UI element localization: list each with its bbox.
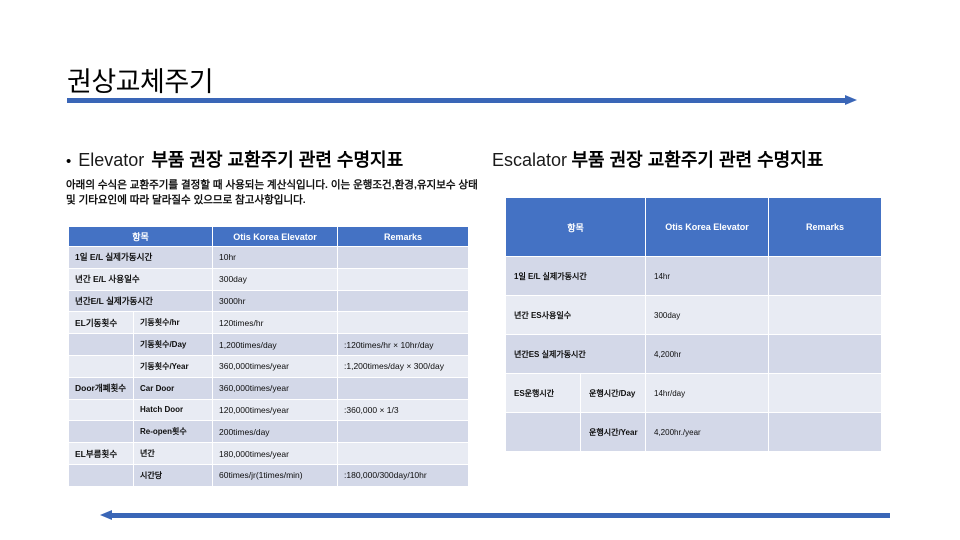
row-group-label: Door개폐횟수 [69,377,134,399]
row-value: 120,000times/year [213,399,338,421]
bullet-icon: • [66,154,71,169]
row-sub-label: 운행시간/Day [581,374,646,413]
row-group-label [69,421,134,443]
row-group-label [69,399,134,421]
row-value: 3000hr [213,290,338,312]
column-header-remarks: Remarks [769,198,882,257]
escalator-table-body: 1일 E/L 실제가동시간14hr년간 ES사용일수300day년간ES 실제가… [506,257,882,452]
elevator-heading-bold: 부품 권장 교환주기 관련 수명지표 [151,146,403,172]
escalator-heading: Escalator 부품 권장 교환주기 관련 수명지표 [492,146,823,172]
row-sub-label: 기동횟수/Year [134,355,213,377]
elevator-table: 항목 Otis Korea Elevator Remarks 1일 E/L 실제… [68,226,469,487]
row-sub-label: 기동횟수/hr [134,312,213,334]
row-remark [769,413,882,452]
elevator-heading-light: Elevator [78,150,144,171]
row-remark [338,312,469,334]
arrow-right-icon [845,95,857,105]
row-remark [338,290,469,312]
bottom-divider-arrow [100,512,890,520]
row-remark [338,247,469,269]
row-remark: :120times/hr × 10hr/day [338,334,469,356]
table-row: 기동횟수/Year360,000times/year:1,200times/da… [69,355,469,377]
column-header-otis: Otis Korea Elevator [213,227,338,247]
column-header-remarks: Remarks [338,227,469,247]
table-row: 시간당60times/jr(1times/min):180,000/300day… [69,464,469,486]
row-group-label: 년간ES 실제가동시간 [506,335,646,374]
row-group-label: 1일 E/L 실제가동시간 [506,257,646,296]
row-value: 300day [213,268,338,290]
table-row: 1일 E/L 실제가동시간10hr [69,247,469,269]
arrow-left-icon [100,510,112,520]
row-remark [769,374,882,413]
row-group-label [69,355,134,377]
title-divider-arrow [67,97,860,104]
row-value: 360,000times/year [213,377,338,399]
row-sub-label: Hatch Door [134,399,213,421]
row-group-label: 년간 ES사용일수 [506,296,646,335]
row-sub-label: Re-open횟수 [134,421,213,443]
row-group-label: 년간E/L 실제가동시간 [69,290,213,312]
row-remark [769,335,882,374]
row-group-label: 년간 E/L 사용일수 [69,268,213,290]
column-header-item: 항목 [506,198,646,257]
row-sub-label: 기동횟수/Day [134,334,213,356]
column-header-item: 항목 [69,227,213,247]
table-row: Re-open횟수200times/day [69,421,469,443]
row-value: 1,200times/day [213,334,338,356]
bottom-divider-line [111,513,890,518]
escalator-heading-light: Escalator [492,150,567,170]
elevator-heading: • Elevator 부품 권장 교환주기 관련 수명지표 [66,146,403,172]
row-value: 180,000times/year [213,443,338,465]
table-row: 기동횟수/Day1,200times/day:120times/hr × 10h… [69,334,469,356]
row-group-label: EL기동횟수 [69,312,134,334]
table-row: 1일 E/L 실제가동시간14hr [506,257,882,296]
table-row: Hatch Door120,000times/year:360,000 × 1/… [69,399,469,421]
row-remark [769,296,882,335]
row-value: 120times/hr [213,312,338,334]
row-group-label [69,464,134,486]
row-sub-label: Car Door [134,377,213,399]
table-row: EL부름횟수년간180,000times/year [69,443,469,465]
escalator-table: 항목 Otis Korea Elevator Remarks 1일 E/L 실제… [505,197,882,452]
row-value: 14hr/day [646,374,769,413]
row-sub-label: 년간 [134,443,213,465]
row-remark [338,268,469,290]
row-sub-label: 시간당 [134,464,213,486]
table-row: 운행시간/Year4,200hr./year [506,413,882,452]
row-value: 60times/jr(1times/min) [213,464,338,486]
row-value: 10hr [213,247,338,269]
row-sub-label: 운행시간/Year [581,413,646,452]
row-remark [338,377,469,399]
table-header-row: 항목 Otis Korea Elevator Remarks [506,198,882,257]
row-remark: :1,200times/day × 300/day [338,355,469,377]
row-value: 200times/day [213,421,338,443]
row-group-label [506,413,581,452]
row-value: 300day [646,296,769,335]
row-remark: :360,000 × 1/3 [338,399,469,421]
row-group-label: EL부름횟수 [69,443,134,465]
table-row: 년간 ES사용일수300day [506,296,882,335]
slide-canvas: 권상교체주기 • Elevator 부품 권장 교환주기 관련 수명지표 아래의… [0,0,960,540]
table-row: 년간E/L 실제가동시간3000hr [69,290,469,312]
row-value: 4,200hr [646,335,769,374]
page-title: 권상교체주기 [67,60,213,99]
table-header-row: 항목 Otis Korea Elevator Remarks [69,227,469,247]
row-group-label: 1일 E/L 실제가동시간 [69,247,213,269]
table-row: 년간 E/L 사용일수300day [69,268,469,290]
row-group-label: ES운행시간 [506,374,581,413]
row-remark [338,443,469,465]
row-remark [338,421,469,443]
row-value: 360,000times/year [213,355,338,377]
elevator-intro-text: 아래의 수식은 교환주기를 결정할 때 사용되는 계산식입니다. 이는 운행조건… [66,178,478,208]
row-value: 4,200hr./year [646,413,769,452]
row-value: 14hr [646,257,769,296]
row-group-label [69,334,134,356]
row-remark [769,257,882,296]
table-row: 년간ES 실제가동시간4,200hr [506,335,882,374]
column-header-otis: Otis Korea Elevator [646,198,769,257]
title-divider-line [67,98,848,103]
table-row: ES운행시간운행시간/Day14hr/day [506,374,882,413]
elevator-table-body: 1일 E/L 실제가동시간10hr년간 E/L 사용일수300day년간E/L … [69,247,469,487]
table-row: Door개폐횟수Car Door360,000times/year [69,377,469,399]
table-row: EL기동횟수기동횟수/hr120times/hr [69,312,469,334]
row-remark: :180,000/300day/10hr [338,464,469,486]
escalator-heading-bold: 부품 권장 교환주기 관련 수명지표 [572,150,824,170]
